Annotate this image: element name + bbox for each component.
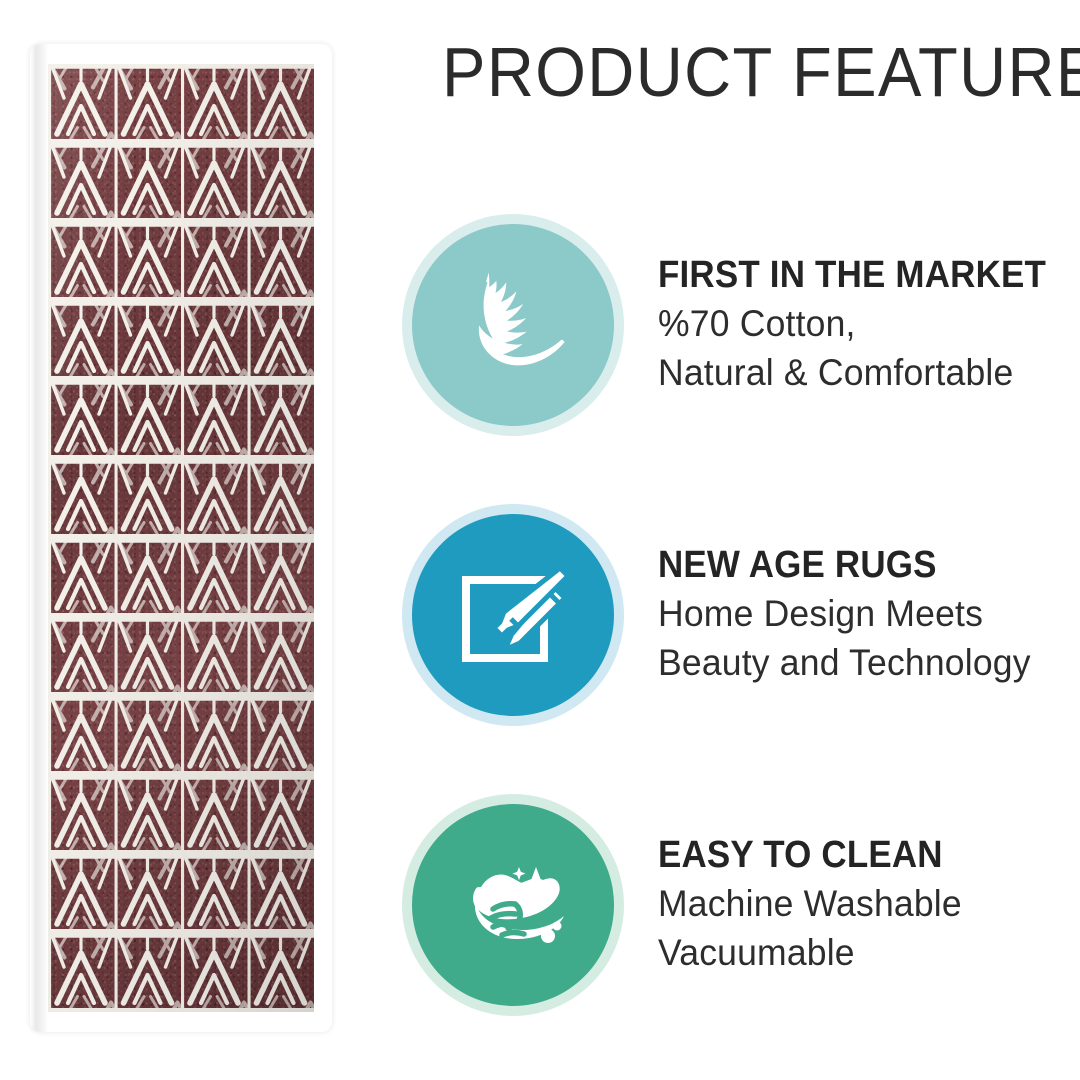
feature-icon-container — [398, 210, 628, 440]
feature-text-block: FIRST IN THE MARKET %70 Cotton, Natural … — [628, 253, 1080, 397]
rug-geometric-pattern — [48, 64, 314, 1012]
feature-list: FIRST IN THE MARKET %70 Cotton, Natural … — [380, 180, 1080, 1050]
product-image-panel — [0, 0, 380, 1080]
feather-icon-disc — [412, 224, 614, 426]
feature-description-line: %70 Cotton, — [658, 299, 1063, 348]
feature-heading: FIRST IN THE MARKET — [658, 253, 1046, 297]
feature-heading: NEW AGE RUGS — [658, 543, 1037, 587]
feather-icon — [449, 261, 577, 389]
product-features-infographic: PRODUCT FEATURES FI — [0, 0, 1080, 1080]
feature-description-line: Home Design Meets — [658, 589, 1054, 638]
design-tools-icon-disc — [412, 514, 614, 716]
feature-heading: EASY TO CLEAN — [658, 833, 1037, 877]
feature-description: Home Design Meets Beauty and Technology — [658, 589, 1070, 687]
design-tools-icon — [448, 550, 578, 680]
feature-description-line: Machine Washable — [658, 879, 1054, 928]
cleaning-hand-icon-disc — [412, 804, 614, 1006]
feature-text-block: EASY TO CLEAN Machine Washable Vacuumabl… — [628, 833, 1080, 977]
feature-description: %70 Cotton, Natural & Comfortable — [658, 299, 1080, 397]
runner-rug-image — [30, 44, 332, 1032]
feature-icon-container — [398, 790, 628, 1020]
rug-pattern-field — [48, 64, 314, 1012]
feature-icon-container — [398, 500, 628, 730]
feature-description-line: Beauty and Technology — [658, 638, 1054, 687]
feature-description-line: Vacuumable — [658, 928, 1054, 977]
feature-item: FIRST IN THE MARKET %70 Cotton, Natural … — [380, 180, 1080, 470]
feature-description-line: Natural & Comfortable — [658, 348, 1063, 397]
cleaning-hand-icon — [447, 839, 579, 971]
features-panel: PRODUCT FEATURES FI — [380, 0, 1080, 1080]
feature-item: NEW AGE RUGS Home Design Meets Beauty an… — [380, 470, 1080, 760]
feature-description: Machine Washable Vacuumable — [658, 879, 1070, 977]
feature-text-block: NEW AGE RUGS Home Design Meets Beauty an… — [628, 543, 1080, 687]
page-title: PRODUCT FEATURES — [442, 36, 1028, 108]
feature-item: EASY TO CLEAN Machine Washable Vacuumabl… — [380, 760, 1080, 1050]
